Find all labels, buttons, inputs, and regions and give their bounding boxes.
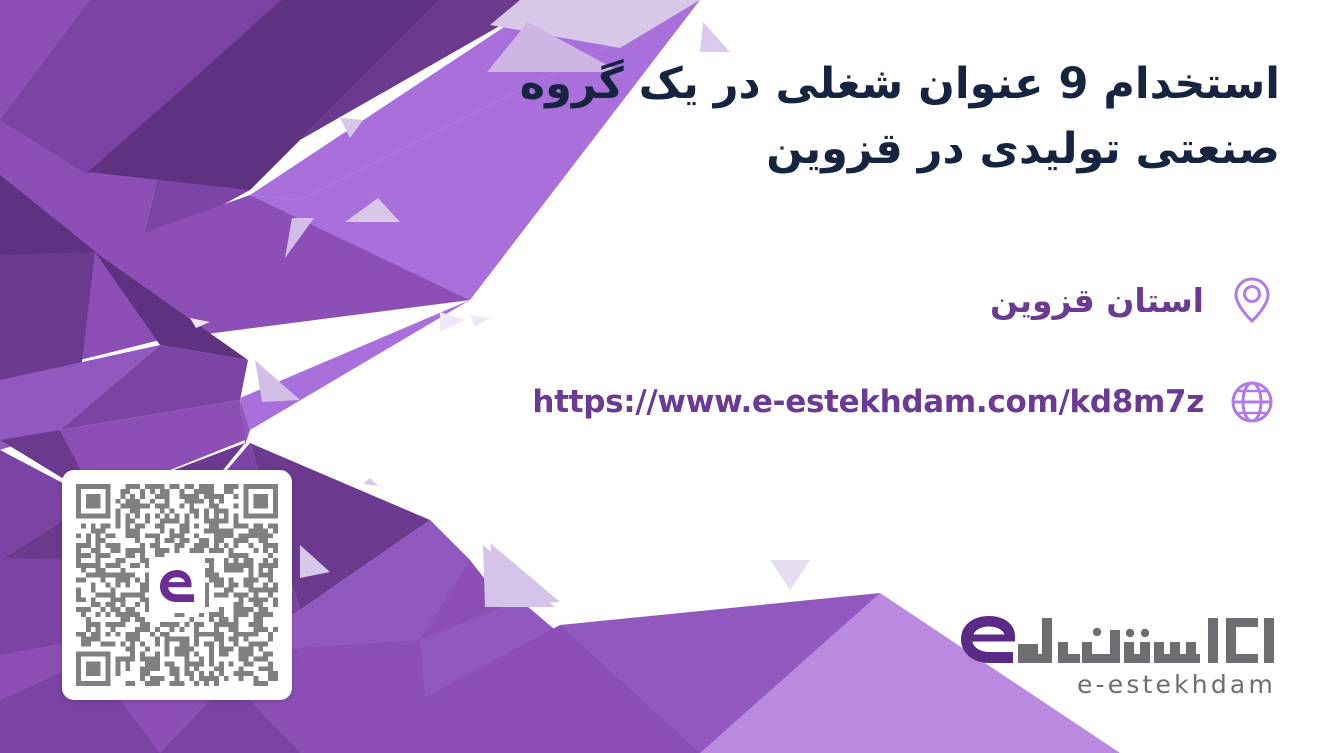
- qr-code-card[interactable]: [62, 470, 292, 700]
- bg-poly: [95, 195, 470, 340]
- brand-logo: e-estekhdam: [958, 612, 1278, 699]
- bg-triangle: [190, 318, 210, 328]
- brand-latin-label: e-estekhdam: [958, 670, 1278, 699]
- location-label: استان قزوین: [990, 281, 1204, 320]
- bg-poly: [0, 0, 200, 300]
- bg-triangle: [490, 543, 560, 604]
- bg-triangle: [770, 560, 810, 590]
- bg-triangle: [285, 218, 314, 258]
- bg-poly: [0, 175, 96, 300]
- bg-triangle: [340, 118, 363, 138]
- page-title: استخدام 9 عنوان شغلی در یک گروه صنعتی تو…: [380, 52, 1280, 183]
- bg-triangle: [345, 198, 400, 222]
- bg-poly: [60, 345, 248, 430]
- qr-code[interactable]: [76, 484, 278, 686]
- bg-poly: [0, 345, 160, 450]
- bg-poly: [0, 0, 280, 175]
- bg-poly: [0, 252, 95, 420]
- bg-poly: [95, 252, 248, 360]
- bg-triangle: [440, 312, 465, 332]
- bg-poly: [420, 593, 880, 753]
- bg-triangle: [470, 315, 490, 327]
- qr-brand-e-icon: [149, 557, 205, 613]
- bg-triangle: [490, 0, 700, 48]
- bg-poly: [240, 398, 250, 445]
- location-row: استان قزوین: [990, 274, 1278, 326]
- bg-triangle: [300, 545, 330, 578]
- bg-triangle: [483, 545, 555, 607]
- bg-triangle: [255, 360, 300, 402]
- map-pin-icon: [1226, 274, 1278, 326]
- job-banner: استخدام 9 عنوان شغلی در یک گروه صنعتی تو…: [0, 0, 1340, 753]
- globe-icon: [1226, 376, 1278, 428]
- bg-poly: [0, 170, 160, 380]
- bg-poly: [420, 600, 700, 753]
- bg-poly: [300, 640, 420, 753]
- bg-poly: [240, 300, 470, 430]
- bg-triangle: [700, 22, 730, 52]
- website-row[interactable]: https://www.e-estekhdam.com/kd8m7z: [532, 376, 1278, 428]
- bg-poly: [0, 0, 90, 120]
- bg-poly: [420, 625, 700, 753]
- brand-mark-persian: [958, 612, 1278, 668]
- bg-poly: [300, 520, 470, 753]
- bg-triangle: [363, 478, 378, 486]
- bg-poly: [420, 560, 620, 753]
- website-url[interactable]: https://www.e-estekhdam.com/kd8m7z: [532, 384, 1204, 420]
